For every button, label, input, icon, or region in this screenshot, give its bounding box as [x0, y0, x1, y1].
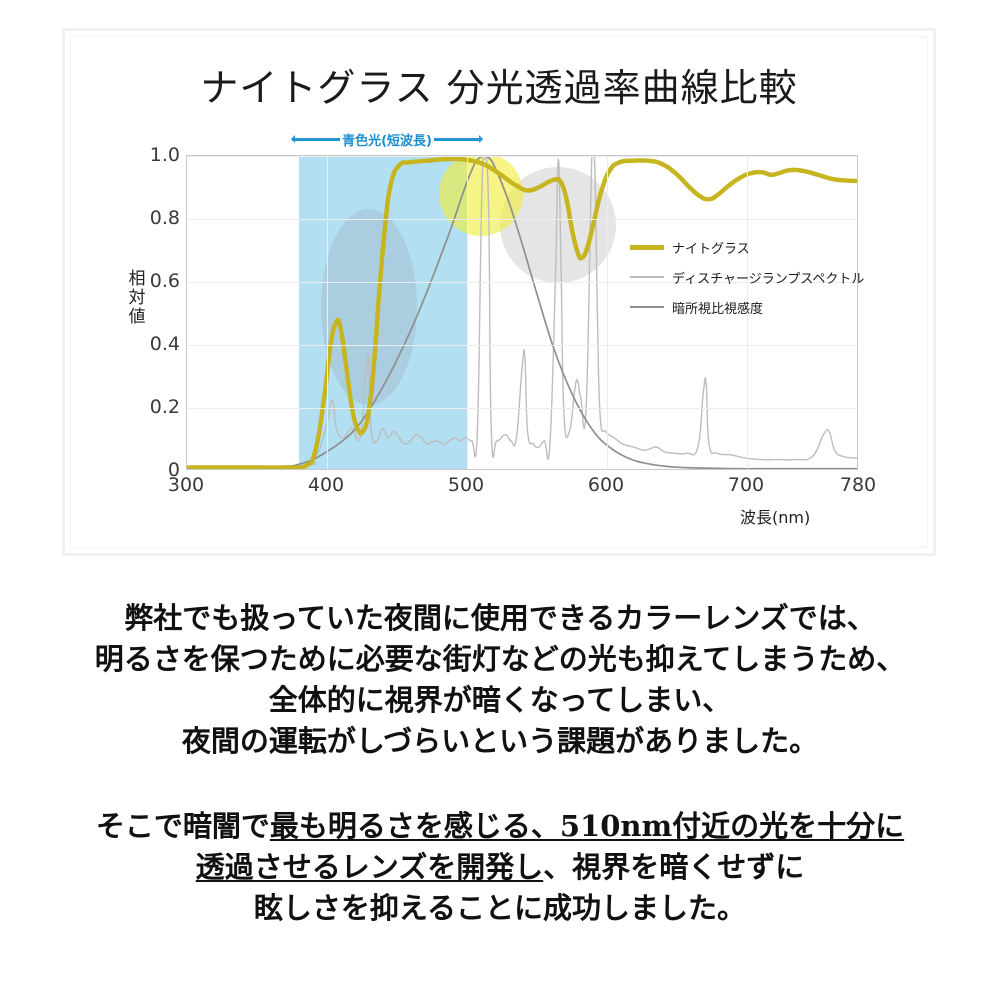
y-tick-label: 0.4 — [136, 333, 180, 355]
p2-line2-underlined: 透過させるレンズを開発し — [196, 850, 543, 884]
gridline-horizontal — [187, 219, 857, 220]
p2-line1-plain: そこで暗闇で — [96, 809, 270, 843]
blue-light-annotation-label: 青色光(短波長) — [342, 130, 432, 149]
x-tick-label: 300 — [168, 474, 204, 496]
gridline-vertical — [607, 156, 608, 469]
legend-label: ナイトグラス — [672, 238, 750, 257]
legend-item: ディスチャージランプスペクトル — [630, 262, 860, 292]
chart-legend: ナイトグラスディスチャージランプスペクトル暗所視比視感度 — [630, 232, 860, 322]
page-title: ナイトグラス 分光透過率曲線比較 — [65, 57, 933, 112]
x-axis-ticks: 300400500600700780 — [186, 474, 858, 502]
legend-item: ナイトグラス — [630, 232, 860, 262]
legend-swatch — [630, 245, 664, 250]
gridline-horizontal — [187, 345, 857, 346]
legend-swatch — [630, 306, 664, 308]
x-tick-label: 780 — [840, 474, 876, 496]
blue-light-annotation: 青色光(短波長) — [292, 128, 482, 150]
gridline-horizontal — [187, 408, 857, 409]
gridline-vertical — [467, 156, 468, 469]
arrow-right-icon — [434, 138, 482, 141]
gridline-vertical — [327, 156, 328, 469]
legend-label: 暗所視比視感度 — [672, 298, 763, 317]
y-tick-label: 0.8 — [136, 207, 180, 229]
y-tick-label: 0.6 — [136, 270, 180, 292]
arrow-left-icon — [292, 138, 340, 141]
body-paragraph-1-line: 全体的に視界が暗くなってしまい、 — [0, 680, 1000, 721]
x-tick-label: 700 — [728, 474, 764, 496]
y-axis-ticks: 00.20.40.60.81.0 — [128, 155, 180, 470]
body-paragraph-2: そこで暗闇で最も明るさを感じる、510nm付近の光を十分に 透過させるレンズを開… — [0, 806, 1000, 929]
body-paragraph-2-line-1: そこで暗闇で最も明るさを感じる、510nm付近の光を十分に — [0, 806, 1000, 847]
y-tick-label: 1.0 — [136, 144, 180, 166]
x-axis-label: 波長(nm) — [740, 504, 810, 528]
body-paragraph-1-line: 弊社でも扱っていた夜間に使用できるカラーレンズでは、 — [0, 598, 1000, 639]
x-tick-label: 600 — [588, 474, 624, 496]
legend-item: 暗所視比視感度 — [630, 292, 860, 322]
x-tick-label: 500 — [448, 474, 484, 496]
body-paragraph-2-line-3: 眩しさを抑えることに成功しました。 — [0, 888, 1000, 929]
p2-line2-plain: 、視界を暗くせずに — [543, 850, 804, 884]
gridline-horizontal — [187, 156, 857, 157]
body-paragraph-1-line: 夜間の運転がしづらいという課題がありました。 — [0, 721, 1000, 762]
body-paragraph-1: 弊社でも扱っていた夜間に使用できるカラーレンズでは、明るさを保つために必要な街灯… — [0, 598, 1000, 762]
y-tick-label: 0.2 — [136, 396, 180, 418]
body-paragraph-2-line-2: 透過させるレンズを開発し、視界を暗くせずに — [0, 847, 1000, 888]
x-tick-label: 400 — [308, 474, 344, 496]
legend-swatch — [630, 276, 664, 278]
legend-label: ディスチャージランプスペクトル — [672, 268, 864, 287]
p2-line1-underlined: 最も明るさを感じる、510nm付近の光を十分に — [270, 809, 904, 843]
body-paragraph-1-line: 明るさを保つために必要な街灯などの光も抑えてしまうため、 — [0, 639, 1000, 680]
